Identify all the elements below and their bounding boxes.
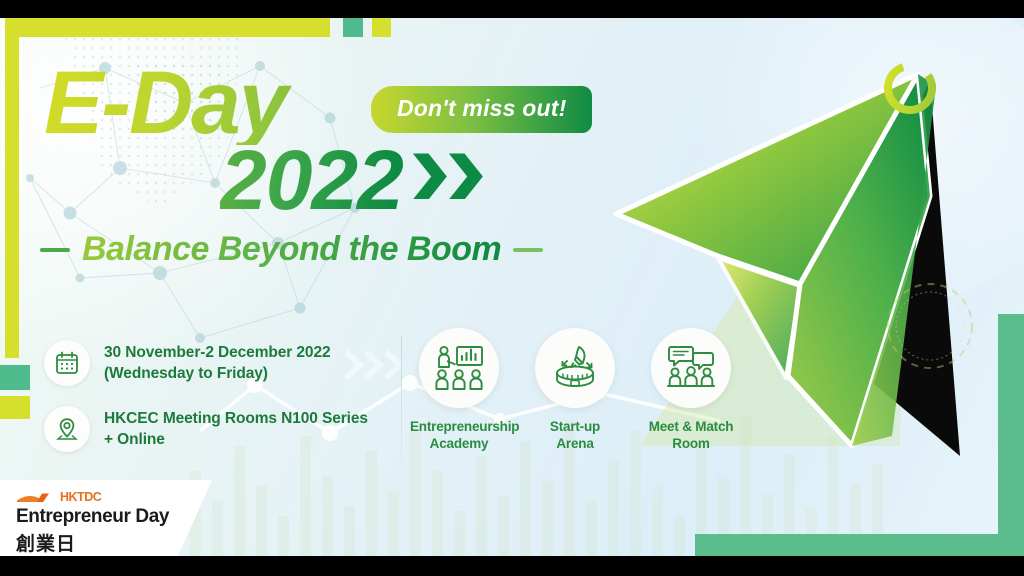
feature-label-line2: Room	[642, 436, 740, 453]
presentation-audience-icon	[419, 328, 499, 408]
feature-startup-arena[interactable]: Start-up Arena	[526, 328, 624, 453]
location-pin-icon	[44, 406, 90, 452]
info-venue-text: HKCEC Meeting Rooms N100 Series + Online	[104, 406, 368, 451]
accent-square-yellow-left	[0, 396, 30, 419]
info-date-text: 30 November-2 December 2022 (Wednesday t…	[104, 340, 331, 385]
info-item-venue: HKCEC Meeting Rooms N100 Series + Online	[44, 406, 394, 452]
feature-entrepreneurship-academy[interactable]: Entrepreneurship Academy	[410, 328, 508, 453]
feature-label-line1: Entrepreneurship	[410, 419, 508, 436]
event-tagline: Balance Beyond the Boom	[82, 230, 501, 269]
hktdc-swoosh-icon	[16, 491, 56, 504]
info-date-line1: 30 November-2 December 2022	[104, 343, 331, 364]
accent-strip-top	[5, 18, 330, 37]
hktdc-logo: HKTDC	[16, 490, 212, 504]
letterbox-top	[0, 0, 1024, 18]
info-item-date: 30 November-2 December 2022 (Wednesday t…	[44, 340, 394, 386]
year-row: 2022	[220, 141, 543, 221]
dash-right-icon	[513, 248, 543, 252]
dont-miss-out-badge[interactable]: Don't miss out!	[371, 86, 592, 133]
accent-strip-left	[5, 18, 19, 358]
double-chevron-icon	[413, 153, 483, 199]
accent-strip-right	[998, 314, 1024, 556]
event-info-list: 30 November-2 December 2022 (Wednesday t…	[44, 340, 394, 472]
feature-label-line1: Meet & Match	[642, 419, 740, 436]
accent-strip-bottom	[695, 534, 1024, 556]
feature-meet-match-room[interactable]: Meet & Match Room	[642, 328, 740, 453]
letterbox-bottom	[0, 556, 1024, 576]
feature-label-line2: Academy	[410, 436, 508, 453]
banner-stage: E-Day 2022 Balance Beyond the Boom Don't…	[0, 0, 1024, 576]
feature-label-line2: Arena	[526, 436, 624, 453]
rocket-stadium-icon	[535, 328, 615, 408]
banner-canvas: E-Day 2022 Balance Beyond the Boom Don't…	[0, 18, 1024, 556]
calendar-icon	[44, 340, 90, 386]
section-divider	[401, 336, 402, 466]
info-date-line2: (Wednesday to Friday)	[104, 364, 331, 385]
logo-panel: HKTDC Entrepreneur Day 創業日	[0, 480, 212, 556]
info-venue-line2: + Online	[104, 430, 368, 451]
accent-square-teal-top	[343, 18, 363, 37]
feature-label-line1: Start-up	[526, 419, 624, 436]
accent-square-yellow-top	[372, 18, 391, 37]
event-year: 2022	[220, 141, 403, 221]
feature-label-entrepreneurship-academy: Entrepreneurship Academy	[410, 419, 508, 453]
accent-square-teal-left	[0, 365, 30, 390]
info-venue-line1: HKCEC Meeting Rooms N100 Series	[104, 409, 368, 430]
speech-bubble-people-icon	[651, 328, 731, 408]
tagline-row: Balance Beyond the Boom	[40, 230, 543, 269]
feature-list: Entrepreneurship Academy	[410, 328, 740, 453]
dash-left-icon	[40, 248, 70, 252]
brand-name-en: Entrepreneur Day	[16, 506, 212, 528]
feature-label-meet-match-room: Meet & Match Room	[642, 419, 740, 453]
feature-label-startup-arena: Start-up Arena	[526, 419, 624, 453]
hktdc-wordmark: HKTDC	[60, 490, 101, 504]
